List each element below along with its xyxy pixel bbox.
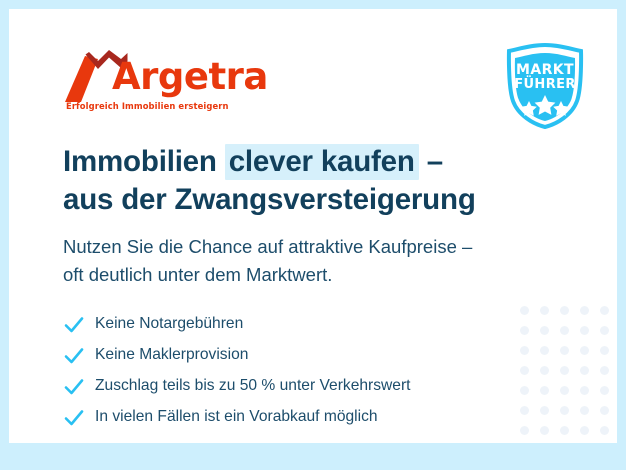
dot bbox=[560, 366, 569, 375]
market-leader-badge: MARKT FÜHRER bbox=[503, 43, 587, 129]
argetra-logo: Argetra Erfolgreich Immobilien ersteiger… bbox=[65, 50, 265, 118]
dot bbox=[540, 326, 549, 335]
dot bbox=[580, 386, 589, 395]
dot bbox=[560, 346, 569, 355]
dot bbox=[560, 326, 569, 335]
list-item-label: Keine Maklerprovision bbox=[95, 346, 248, 365]
promo-banner: Argetra Erfolgreich Immobilien ersteiger… bbox=[0, 0, 626, 470]
dot bbox=[600, 426, 609, 435]
dot bbox=[540, 366, 549, 375]
headline-part1: Immobilien bbox=[63, 145, 225, 178]
check-icon bbox=[63, 407, 85, 429]
dot bbox=[560, 406, 569, 415]
page-title: Immobilien clever kaufen – aus der Zwang… bbox=[63, 143, 543, 219]
shield-badge-icon bbox=[503, 43, 587, 129]
benefit-list: Keine Notargebühren Keine Maklerprovisio… bbox=[63, 309, 503, 433]
dot bbox=[520, 386, 529, 395]
headline-line2: aus der Zwangsversteigerung bbox=[63, 183, 476, 216]
dot bbox=[600, 386, 609, 395]
dot bbox=[580, 306, 589, 315]
list-item: In vielen Fällen ist ein Vorabkauf mögli… bbox=[63, 402, 503, 433]
dot-grid-decoration bbox=[520, 306, 617, 443]
dot bbox=[540, 426, 549, 435]
dot bbox=[600, 306, 609, 315]
list-item-label: In vielen Fällen ist ein Vorabkauf mögli… bbox=[95, 408, 378, 427]
dot bbox=[600, 406, 609, 415]
logo-wordmark: Argetra bbox=[112, 58, 268, 95]
dot bbox=[520, 326, 529, 335]
dot bbox=[520, 346, 529, 355]
dot bbox=[560, 306, 569, 315]
dot bbox=[520, 366, 529, 375]
check-icon bbox=[63, 314, 85, 336]
dot bbox=[580, 406, 589, 415]
dot bbox=[540, 386, 549, 395]
subheading-line2: oft deutlich unter dem Marktwert. bbox=[63, 264, 332, 285]
check-icon bbox=[63, 345, 85, 367]
dot bbox=[600, 326, 609, 335]
dot bbox=[580, 366, 589, 375]
check-icon bbox=[63, 376, 85, 398]
dot bbox=[540, 346, 549, 355]
dot bbox=[540, 406, 549, 415]
dot bbox=[580, 326, 589, 335]
subheading-line1: Nutzen Sie die Chance auf attraktive Kau… bbox=[63, 236, 472, 257]
logo-tagline: Erfolgreich Immobilien ersteigern bbox=[66, 101, 229, 111]
banner-card: Argetra Erfolgreich Immobilien ersteiger… bbox=[9, 9, 617, 443]
dot bbox=[580, 426, 589, 435]
dot bbox=[580, 346, 589, 355]
list-item: Keine Notargebühren bbox=[63, 309, 503, 340]
list-item-label: Zuschlag teils bis zu 50 % unter Verkehr… bbox=[95, 377, 410, 396]
subheading: Nutzen Sie die Chance auf attraktive Kau… bbox=[63, 233, 533, 289]
dot bbox=[520, 426, 529, 435]
dot bbox=[560, 426, 569, 435]
dot bbox=[540, 306, 549, 315]
list-item: Keine Maklerprovision bbox=[63, 340, 503, 371]
headline-part2: – bbox=[419, 145, 443, 178]
dot bbox=[560, 386, 569, 395]
list-item: Zuschlag teils bis zu 50 % unter Verkehr… bbox=[63, 371, 503, 402]
list-item-label: Keine Notargebühren bbox=[95, 315, 243, 334]
dot bbox=[520, 406, 529, 415]
dot bbox=[520, 306, 529, 315]
dot bbox=[600, 366, 609, 375]
dot bbox=[600, 346, 609, 355]
headline-highlight: clever kaufen bbox=[225, 144, 419, 180]
